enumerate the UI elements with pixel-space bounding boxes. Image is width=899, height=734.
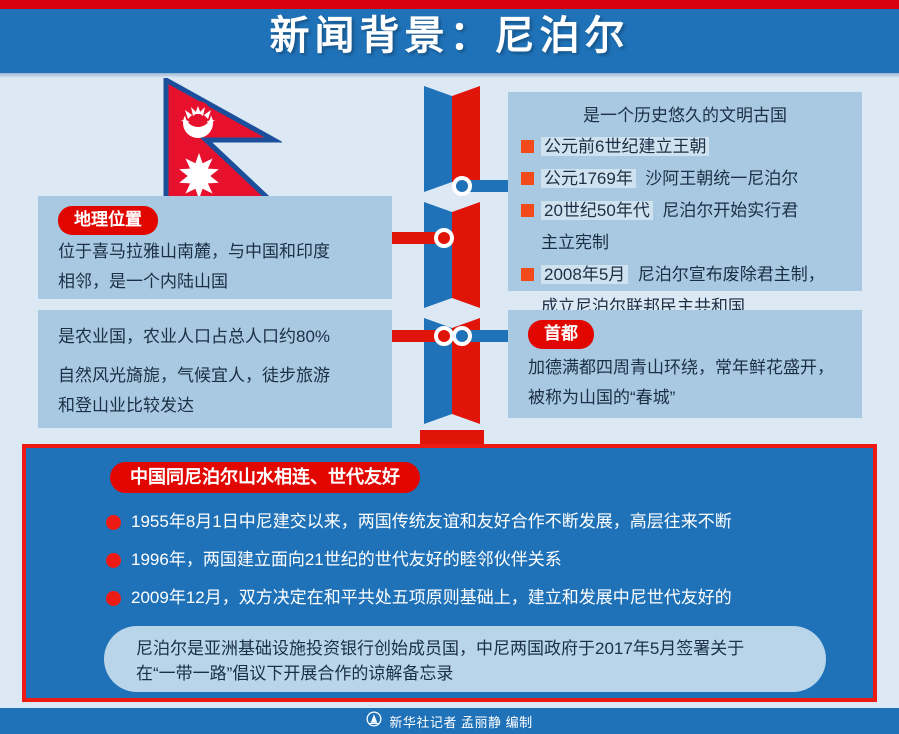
history-item-text: 尼泊尔开始实行君 — [662, 201, 798, 220]
page-title: 新闻背景：尼泊尔 — [0, 12, 899, 60]
banner-shadow — [0, 73, 899, 78]
relations-tag: 中国同尼泊尔山水相连、世代友好 — [110, 462, 420, 493]
nepal-flag — [162, 78, 282, 208]
history-item: 公元前6世纪建立王朝 — [521, 132, 862, 161]
top-red-strip — [0, 0, 899, 9]
geography-tag-wrap: 地理位置 — [58, 206, 158, 235]
history-item-continuation: 主立宪制 — [521, 228, 862, 257]
economy-line: 是农业国，农业人口占总人口约80% — [58, 322, 330, 352]
nepal-flag-svg — [162, 78, 282, 208]
capital-tag: 首都 — [528, 320, 594, 349]
square-bullet-icon — [521, 268, 534, 281]
history-item-text: 尼泊尔宣布废除君主制， — [638, 265, 825, 284]
relations-tag-wrap: 中国同尼泊尔山水相连、世代友好 — [110, 462, 420, 493]
history-item-date: 20世纪50年代 — [541, 201, 653, 220]
panel-geography: 地理位置 位于喜马拉雅山南麓，与中国和印度 相邻，是一个内陆山国 — [38, 196, 392, 299]
geography-line: 位于喜马拉雅山南麓，与中国和印度 — [58, 237, 330, 267]
relations-item: 1996年，两国建立面向21世纪的世代友好的睦邻伙伴关系 — [106, 546, 866, 574]
connector-geography — [390, 232, 454, 244]
relations-item: 1955年8月1日中尼建交以来，两国传统友谊和友好合作不断发展，高层往来不断 — [106, 508, 866, 536]
economy-line: 自然风光旖旎，气候宜人，徒步旅游 — [58, 361, 330, 391]
panel-history: 是一个历史悠久的文明古国 公元前6世纪建立王朝 公元1769年 沙阿王朝统一尼泊… — [508, 92, 862, 291]
connector-history — [452, 180, 514, 192]
infographic-root: 新闻背景：尼泊尔 — [0, 0, 899, 734]
square-bullet-icon — [521, 204, 534, 217]
relations-block: 中国同尼泊尔山水相连、世代友好 1955年8月1日中尼建交以来，两国传统友谊和友… — [22, 444, 877, 702]
relations-item-text: 2009年12月，双方决定在和平共处五项原则基础上，建立和发展中尼世代友好的 — [131, 584, 732, 612]
history-item-date: 2008年5月 — [541, 265, 628, 284]
center-ribbon-svg — [420, 86, 484, 438]
capital-line: 加德满都四周青山环绕，常年鲜花盛开， — [528, 353, 834, 383]
square-bullet-icon — [521, 172, 534, 185]
geography-line: 相邻，是一个内陆山国 — [58, 267, 330, 297]
square-bullet-icon — [521, 140, 534, 153]
history-item: 公元1769年 沙阿王朝统一尼泊尔 — [521, 164, 862, 193]
dot-bullet-icon — [106, 553, 121, 568]
connector-capital — [452, 330, 514, 342]
history-item-date: 公元1769年 — [541, 169, 636, 188]
center-ribbon — [420, 86, 484, 438]
history-item-text: 主立宪制 — [541, 228, 609, 257]
relations-item-text: 1955年8月1日中尼建交以来，两国传统友谊和友好合作不断发展，高层往来不断 — [131, 508, 732, 536]
relations-note-line: 尼泊尔是亚洲基础设施投资银行创始成员国，中尼两国政府于2017年5月签署关于 — [136, 636, 744, 661]
panel-economy: 是农业国，农业人口占总人口约80% 自然风光旖旎，气候宜人，徒步旅游 和登山业比… — [38, 310, 392, 428]
dot-bullet-icon — [106, 591, 121, 606]
history-item-text: 沙阿王朝统一尼泊尔 — [645, 169, 798, 188]
relations-item: 2009年12月，双方决定在和平共处五项原则基础上，建立和发展中尼世代友好的 — [106, 584, 866, 612]
economy-line: 和登山业比较发达 — [58, 391, 330, 421]
relations-note: 尼泊尔是亚洲基础设施投资银行创始成员国，中尼两国政府于2017年5月签署关于 在… — [104, 626, 826, 692]
xinhua-logo-icon — [366, 711, 382, 732]
footer-strip: 新华社记者 孟丽静 编制 — [0, 708, 899, 734]
geography-tag: 地理位置 — [58, 206, 158, 235]
capital-tag-wrap: 首都 — [528, 320, 594, 349]
relations-note-line: 在“一带一路”倡议下开展合作的谅解备忘录 — [136, 661, 744, 686]
history-item-date: 公元前6世纪建立王朝 — [541, 137, 709, 156]
footer-credit: 新华社记者 孟丽静 编制 — [389, 712, 532, 731]
history-item: 20世纪50年代 尼泊尔开始实行君 — [521, 196, 862, 225]
history-item: 2008年5月 尼泊尔宣布废除君主制， — [521, 260, 862, 289]
panel-capital: 首都 加德满都四周青山环绕，常年鲜花盛开， 被称为山国的“春城” — [508, 310, 862, 418]
ribbon-foot — [420, 430, 484, 444]
capital-line: 被称为山国的“春城” — [528, 383, 834, 413]
connector-economy — [390, 330, 454, 342]
dot-bullet-icon — [106, 515, 121, 530]
relations-item-text: 1996年，两国建立面向21世纪的世代友好的睦邻伙伴关系 — [131, 546, 562, 574]
history-list: 公元前6世纪建立王朝 公元1769年 沙阿王朝统一尼泊尔 20世纪50年代 尼泊… — [521, 132, 862, 324]
history-headline: 是一个历史悠久的文明古国 — [508, 101, 862, 130]
